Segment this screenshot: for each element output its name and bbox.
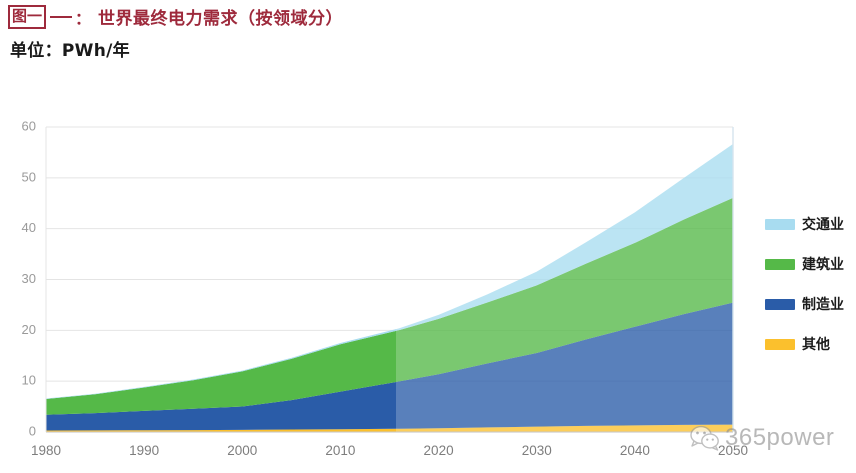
legend-label-manufacturing: 制造业 <box>802 294 844 314</box>
svg-text:60: 60 <box>22 118 36 133</box>
legend-swatch-transport <box>765 219 795 230</box>
legend-item-other[interactable]: 其他 <box>765 334 844 354</box>
figure-badge: 图一 <box>8 5 46 29</box>
y-axis-tick-labels: 0102030405060 <box>22 118 36 438</box>
svg-text:30: 30 <box>22 271 36 286</box>
chart-page: 图一 ： 世界最终电力需求（按领域分） 单位：PWh/年 01020304050… <box>0 0 856 473</box>
x-axis-tick-labels: 19801990200020102020203020402050 <box>31 443 748 458</box>
legend-swatch-other <box>765 339 795 350</box>
legend-label-other: 其他 <box>802 334 830 354</box>
chart-container: 0102030405060 19801990200020102020203020… <box>0 96 856 473</box>
svg-text:1980: 1980 <box>31 443 61 458</box>
svg-text:2040: 2040 <box>620 443 650 458</box>
title-dash-rule <box>50 16 72 18</box>
page-title: 图一 ： 世界最终电力需求（按领域分） <box>8 4 343 29</box>
title-colon: ： <box>75 5 91 29</box>
svg-text:10: 10 <box>22 373 36 388</box>
page-subtitle: 单位：PWh/年 <box>10 36 130 61</box>
svg-text:20: 20 <box>22 322 36 337</box>
legend-item-transport[interactable]: 交通业 <box>765 214 844 234</box>
svg-text:2050: 2050 <box>718 443 748 458</box>
svg-text:50: 50 <box>22 169 36 184</box>
page-title-text: 世界最终电力需求（按领域分） <box>98 4 343 29</box>
svg-text:2030: 2030 <box>522 443 552 458</box>
svg-text:40: 40 <box>22 220 36 235</box>
svg-text:2000: 2000 <box>227 443 257 458</box>
svg-text:2020: 2020 <box>424 443 454 458</box>
stacked-area-chart: 0102030405060 19801990200020102020203020… <box>0 96 856 473</box>
legend-swatch-manufacturing <box>765 299 795 310</box>
chart-legend: 交通业 建筑业 制造业 其他 <box>765 214 844 354</box>
legend-label-buildings: 建筑业 <box>802 254 844 274</box>
legend-swatch-buildings <box>765 259 795 270</box>
legend-item-buildings[interactable]: 建筑业 <box>765 254 844 274</box>
svg-text:1990: 1990 <box>129 443 159 458</box>
legend-label-transport: 交通业 <box>802 214 844 234</box>
svg-text:2010: 2010 <box>325 443 355 458</box>
legend-item-manufacturing[interactable]: 制造业 <box>765 294 844 314</box>
svg-text:0: 0 <box>29 423 36 438</box>
